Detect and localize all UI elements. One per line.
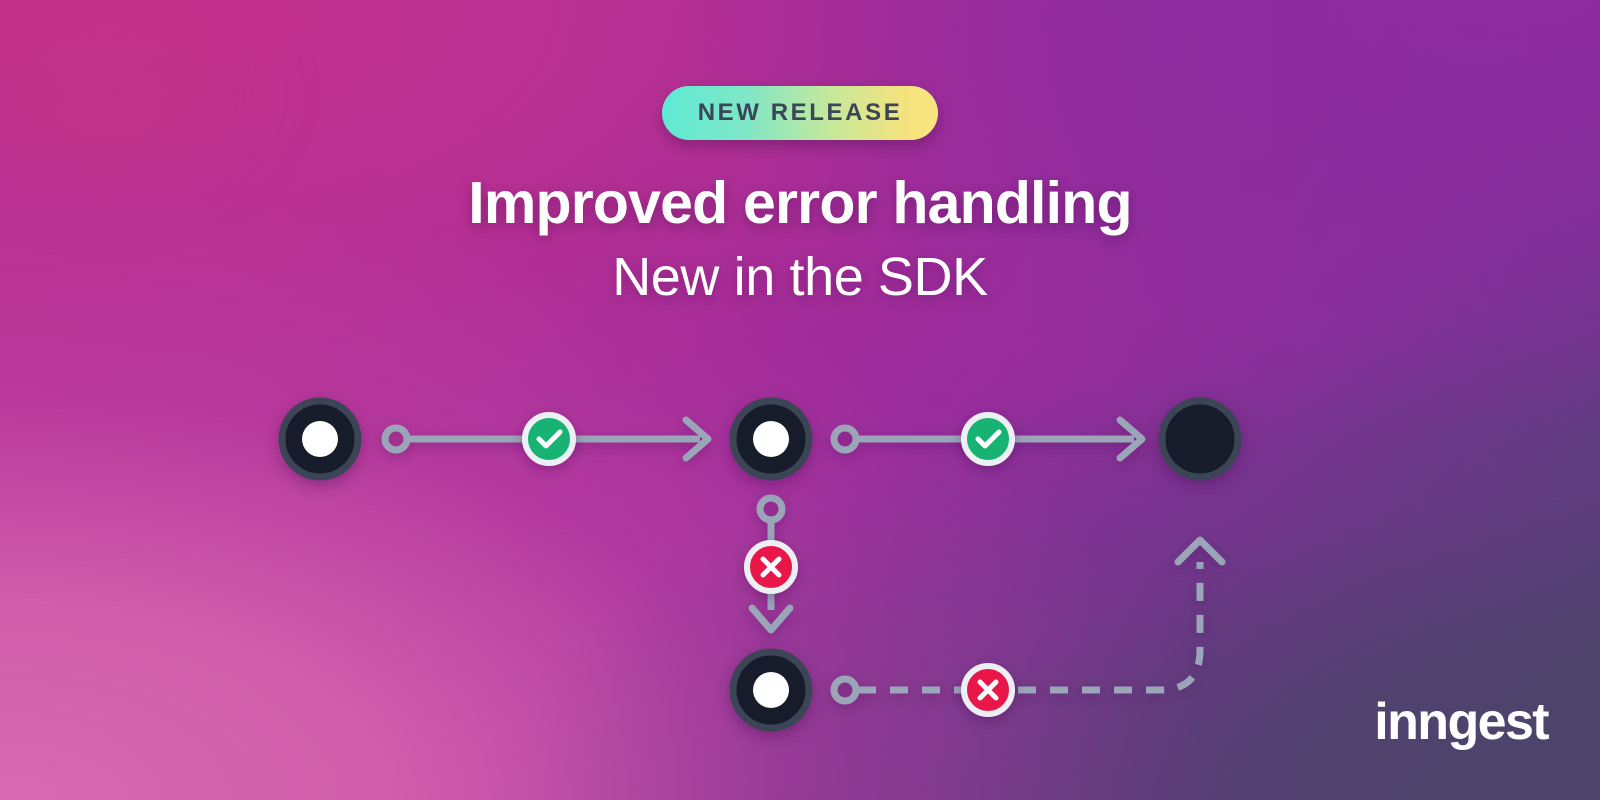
- promo-canvas: NEW RELEASE Improved error handling New …: [0, 0, 1600, 800]
- error-handler-node[interactable]: [733, 652, 809, 728]
- page-subtitle: New in the SDK: [0, 247, 1600, 307]
- start-step-node[interactable]: [282, 401, 358, 477]
- retry-step-node[interactable]: [733, 401, 809, 477]
- page-title: Improved error handling: [0, 172, 1600, 235]
- inngest-logo: inngest: [1374, 696, 1548, 748]
- end-step-node[interactable]: [1162, 401, 1238, 477]
- error-cross-badge[interactable]: [747, 543, 795, 591]
- new-release-badge: NEW RELEASE: [662, 86, 939, 140]
- success-check-badge[interactable]: [964, 415, 1012, 463]
- error-cross-badge[interactable]: [964, 666, 1012, 714]
- success-check-badge[interactable]: [525, 415, 573, 463]
- headline-block: Improved error handling New in the SDK: [0, 172, 1600, 307]
- release-badge-row: NEW RELEASE: [0, 86, 1600, 140]
